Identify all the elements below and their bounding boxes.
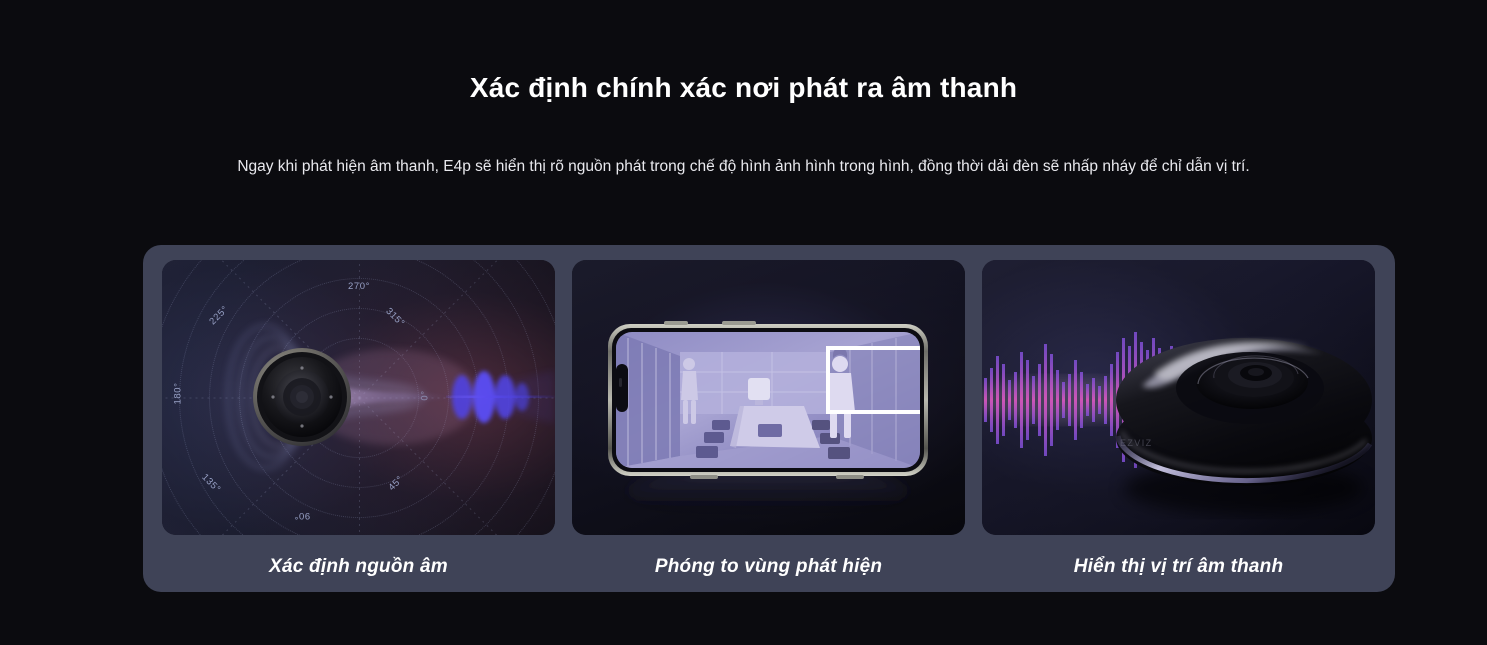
polar-label-180: 180° <box>173 382 184 404</box>
card-show-position[interactable]: EZVIZ <box>982 260 1375 535</box>
caption-show-position: Hiển thị vị trí âm thanh <box>982 545 1375 589</box>
smartphone-mockup <box>572 260 965 535</box>
card-zoom-detection[interactable] <box>572 260 965 535</box>
dome-camera-device: EZVIZ <box>982 260 1375 535</box>
page-title: Xác định chính xác nơi phát ra âm thanh <box>0 72 1487 104</box>
brand-logo: EZVIZ <box>1120 438 1153 448</box>
polar-label-90: 90° <box>294 510 310 521</box>
camera-lens-icon <box>162 260 555 535</box>
feature-section: Xác định chính xác nơi phát ra âm thanh … <box>0 0 1487 645</box>
caption-sound-source: Xác định nguồn âm <box>162 545 555 589</box>
section-description: Ngay khi phát hiện âm thanh, E4p sẽ hiển… <box>136 152 1351 181</box>
card-captions-row: Xác định nguồn âm Phóng to vùng phát hiệ… <box>162 545 1376 589</box>
card-sound-source[interactable]: 270° 225° 315° 180° 135° 45° 90° 0° <box>162 260 555 535</box>
caption-zoom-detection: Phóng to vùng phát hiện <box>572 545 965 589</box>
polar-label-270: 270° <box>348 281 370 292</box>
polar-label-0: 0° <box>420 390 431 400</box>
feature-cards-panel: 270° 225° 315° 180° 135° 45° 90° 0° <box>143 245 1395 592</box>
cards-row: 270° 225° 315° 180° 135° 45° 90° 0° <box>162 260 1376 535</box>
